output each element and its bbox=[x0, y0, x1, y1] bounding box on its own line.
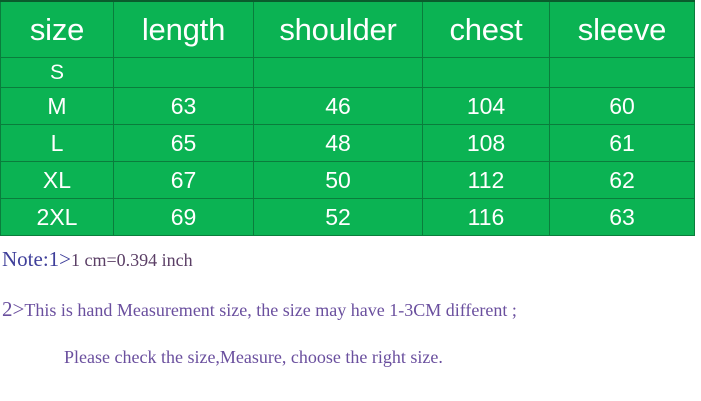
cell-sleeve: 61 bbox=[550, 125, 695, 162]
cell-chest: 112 bbox=[423, 162, 550, 199]
cell-length bbox=[114, 58, 254, 88]
cell-size: L bbox=[1, 125, 114, 162]
cell-shoulder: 52 bbox=[254, 199, 423, 236]
table-row: S bbox=[1, 58, 695, 88]
note-measurement-label: 2> bbox=[2, 297, 24, 321]
cell-chest bbox=[423, 58, 550, 88]
column-header-chest: chest bbox=[423, 1, 550, 58]
note-measurement-text: This is hand Measurement size, the size … bbox=[24, 300, 517, 320]
note-check-size: Please check the size,Measure, choose th… bbox=[64, 347, 443, 368]
note-conversion: Note:1>1 cm=0.394 inch bbox=[2, 247, 193, 272]
column-header-size: size bbox=[1, 1, 114, 58]
column-header-sleeve: sleeve bbox=[550, 1, 695, 58]
cell-chest: 108 bbox=[423, 125, 550, 162]
table-row: 2XL 69 52 116 63 bbox=[1, 199, 695, 236]
table-row: XL 67 50 112 62 bbox=[1, 162, 695, 199]
size-chart-page: size length shoulder chest sleeve S M 63… bbox=[0, 0, 701, 401]
cell-sleeve: 62 bbox=[550, 162, 695, 199]
cell-length: 65 bbox=[114, 125, 254, 162]
cell-sleeve: 60 bbox=[550, 88, 695, 125]
cell-length: 67 bbox=[114, 162, 254, 199]
cell-shoulder: 48 bbox=[254, 125, 423, 162]
cell-shoulder: 50 bbox=[254, 162, 423, 199]
column-header-shoulder: shoulder bbox=[254, 1, 423, 58]
cell-chest: 116 bbox=[423, 199, 550, 236]
cell-size: XL bbox=[1, 162, 114, 199]
table-header-row: size length shoulder chest sleeve bbox=[1, 1, 695, 58]
cell-size: S bbox=[1, 58, 114, 88]
cell-length: 63 bbox=[114, 88, 254, 125]
column-header-length: length bbox=[114, 1, 254, 58]
cell-size: 2XL bbox=[1, 199, 114, 236]
cell-sleeve bbox=[550, 58, 695, 88]
table-body: S M 63 46 104 60 L 65 48 108 61 XL bbox=[1, 58, 695, 236]
cell-length: 69 bbox=[114, 199, 254, 236]
size-chart-table: size length shoulder chest sleeve S M 63… bbox=[0, 0, 695, 236]
cell-sleeve: 63 bbox=[550, 199, 695, 236]
cell-size: M bbox=[1, 88, 114, 125]
note-measurement: 2>This is hand Measurement size, the siz… bbox=[2, 297, 517, 322]
table-row: M 63 46 104 60 bbox=[1, 88, 695, 125]
note-conversion-text: 1 cm=0.394 inch bbox=[71, 250, 193, 270]
table-row: L 65 48 108 61 bbox=[1, 125, 695, 162]
cell-shoulder: 46 bbox=[254, 88, 423, 125]
cell-chest: 104 bbox=[423, 88, 550, 125]
table-header: size length shoulder chest sleeve bbox=[1, 1, 695, 58]
cell-shoulder bbox=[254, 58, 423, 88]
note-conversion-label: Note:1> bbox=[2, 247, 71, 271]
